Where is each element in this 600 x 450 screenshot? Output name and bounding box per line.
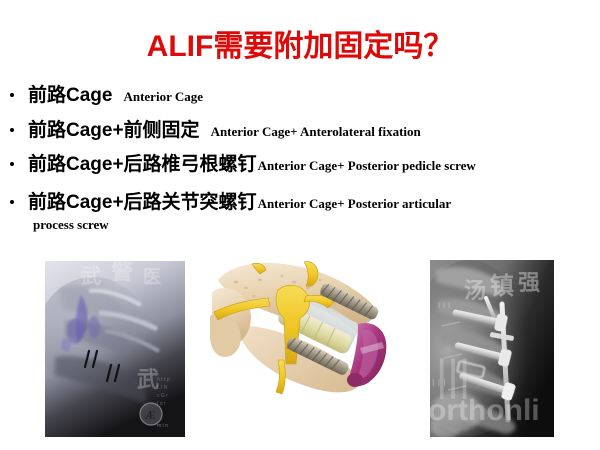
svg-text:I I I: I I I (432, 378, 446, 389)
svg-text:武: 武 (137, 367, 159, 392)
svg-text:武: 武 (81, 265, 101, 288)
svg-text:orthonli: orthonli (430, 394, 540, 427)
bullet-english-text: Anterior Cage+ Posterior pedicle screw (257, 158, 476, 173)
svg-text:h t t p: h t t p (157, 377, 170, 383)
xray-image-right: 汤 镇 强 ι ι ι ||| I I I orthonli (430, 260, 554, 437)
bullet-chinese-text: 前路Cage (28, 85, 112, 106)
svg-text:m i n: m i n (157, 423, 168, 429)
bullet-english-text-wrap: process screw (28, 216, 600, 234)
svg-text:c G r: c G r (157, 393, 168, 399)
svg-text:L I N: L I N (157, 385, 168, 391)
list-item: 前路CageAnterior Cage (0, 84, 600, 109)
svg-text:f o r: f o r (157, 401, 166, 407)
list-item: 前路Cage+后路椎弓根螺钉Anterior Cage+ Posterior p… (0, 153, 600, 178)
bullet-chinese-text: 前路Cage+前侧固定 (28, 120, 200, 141)
bullet-list: 前路CageAnterior Cage 前路Cage+前侧固定Anterior … (0, 84, 600, 247)
svg-text:汤: 汤 (464, 278, 486, 303)
bullet-chinese-text: 前路Cage+后路椎弓根螺钉 (28, 154, 257, 175)
svg-text:镇: 镇 (490, 273, 514, 300)
page-title: ALIF需要附加固定吗？ (0, 30, 600, 64)
bullet-english-text: Anterior Cage+ Anterolateral fixation (200, 124, 421, 139)
bullet-dot-icon (10, 162, 14, 166)
xray-image-left: 武 警 医 武 h t t p L I N c G r f o r Æ m i … (45, 261, 185, 437)
svg-text:强: 强 (518, 270, 540, 295)
list-item: 前路Cage+前侧固定Anterior Cage+ Anterolateral … (0, 119, 600, 144)
bullet-dot-icon (10, 128, 14, 132)
svg-text:医: 医 (143, 267, 161, 287)
bullet-dot-icon (10, 93, 14, 97)
bullet-english-text: Anterior Cage+ Posterior articular (257, 196, 452, 211)
svg-text:|||: ||| (436, 351, 470, 400)
bullet-english-text: Anterior Cage (112, 89, 203, 104)
svg-text:Æ: Æ (145, 408, 156, 422)
list-item: 前路Cage+后路关节突螺钉Anterior Cage+ Posterior a… (0, 191, 600, 234)
svg-text:警: 警 (110, 261, 133, 284)
svg-text:ι ι ι: ι ι ι (438, 300, 450, 311)
spine-illustration-middle (208, 256, 393, 406)
bullet-dot-icon (10, 200, 14, 204)
bullet-chinese-text: 前路Cage+后路关节突螺钉 (28, 192, 257, 213)
